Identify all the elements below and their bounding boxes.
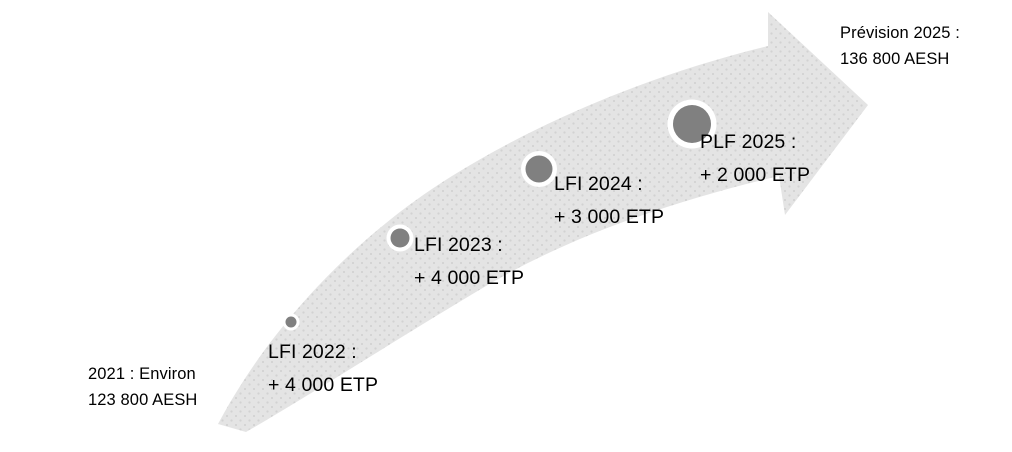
label-lfi-2024: LFI 2024 : + 3 000 ETP (554, 168, 664, 234)
label-plf-2025: PLF 2025 : + 2 000 ETP (700, 126, 810, 192)
caption-2025-line2: 136 800 AESH (840, 46, 960, 72)
label-lfi-2023: LFI 2023 : + 4 000 ETP (414, 229, 524, 295)
marker-dot-icon (526, 156, 553, 183)
caption-2025-line1: Prévision 2025 : (840, 20, 960, 46)
label-lfi-2022-value: + 4 000 ETP (268, 369, 378, 402)
label-lfi-2022-title: LFI 2022 : (268, 336, 378, 369)
label-lfi-2023-title: LFI 2023 : (414, 229, 524, 262)
caption-2021-line1: 2021 : Environ (88, 361, 197, 387)
marker-dot-icon (391, 229, 410, 248)
label-lfi-2024-value: + 3 000 ETP (554, 201, 664, 234)
caption-2021-line2: 123 800 AESH (88, 387, 197, 413)
label-lfi-2024-title: LFI 2024 : (554, 168, 664, 201)
marker-lfi-2022 (283, 314, 300, 331)
infographic-canvas: 2021 : Environ 123 800 AESH Prévision 20… (0, 0, 1012, 452)
marker-lfi-2024 (521, 151, 557, 187)
label-lfi-2022: LFI 2022 : + 4 000 ETP (268, 336, 378, 402)
caption-2025-forecast: Prévision 2025 : 136 800 AESH (840, 20, 960, 72)
marker-dot-icon (286, 317, 297, 328)
label-plf-2025-title: PLF 2025 : (700, 126, 810, 159)
marker-lfi-2023 (387, 225, 414, 252)
label-lfi-2023-value: + 4 000 ETP (414, 262, 524, 295)
label-plf-2025-value: + 2 000 ETP (700, 159, 810, 192)
caption-2021-baseline: 2021 : Environ 123 800 AESH (88, 361, 197, 413)
